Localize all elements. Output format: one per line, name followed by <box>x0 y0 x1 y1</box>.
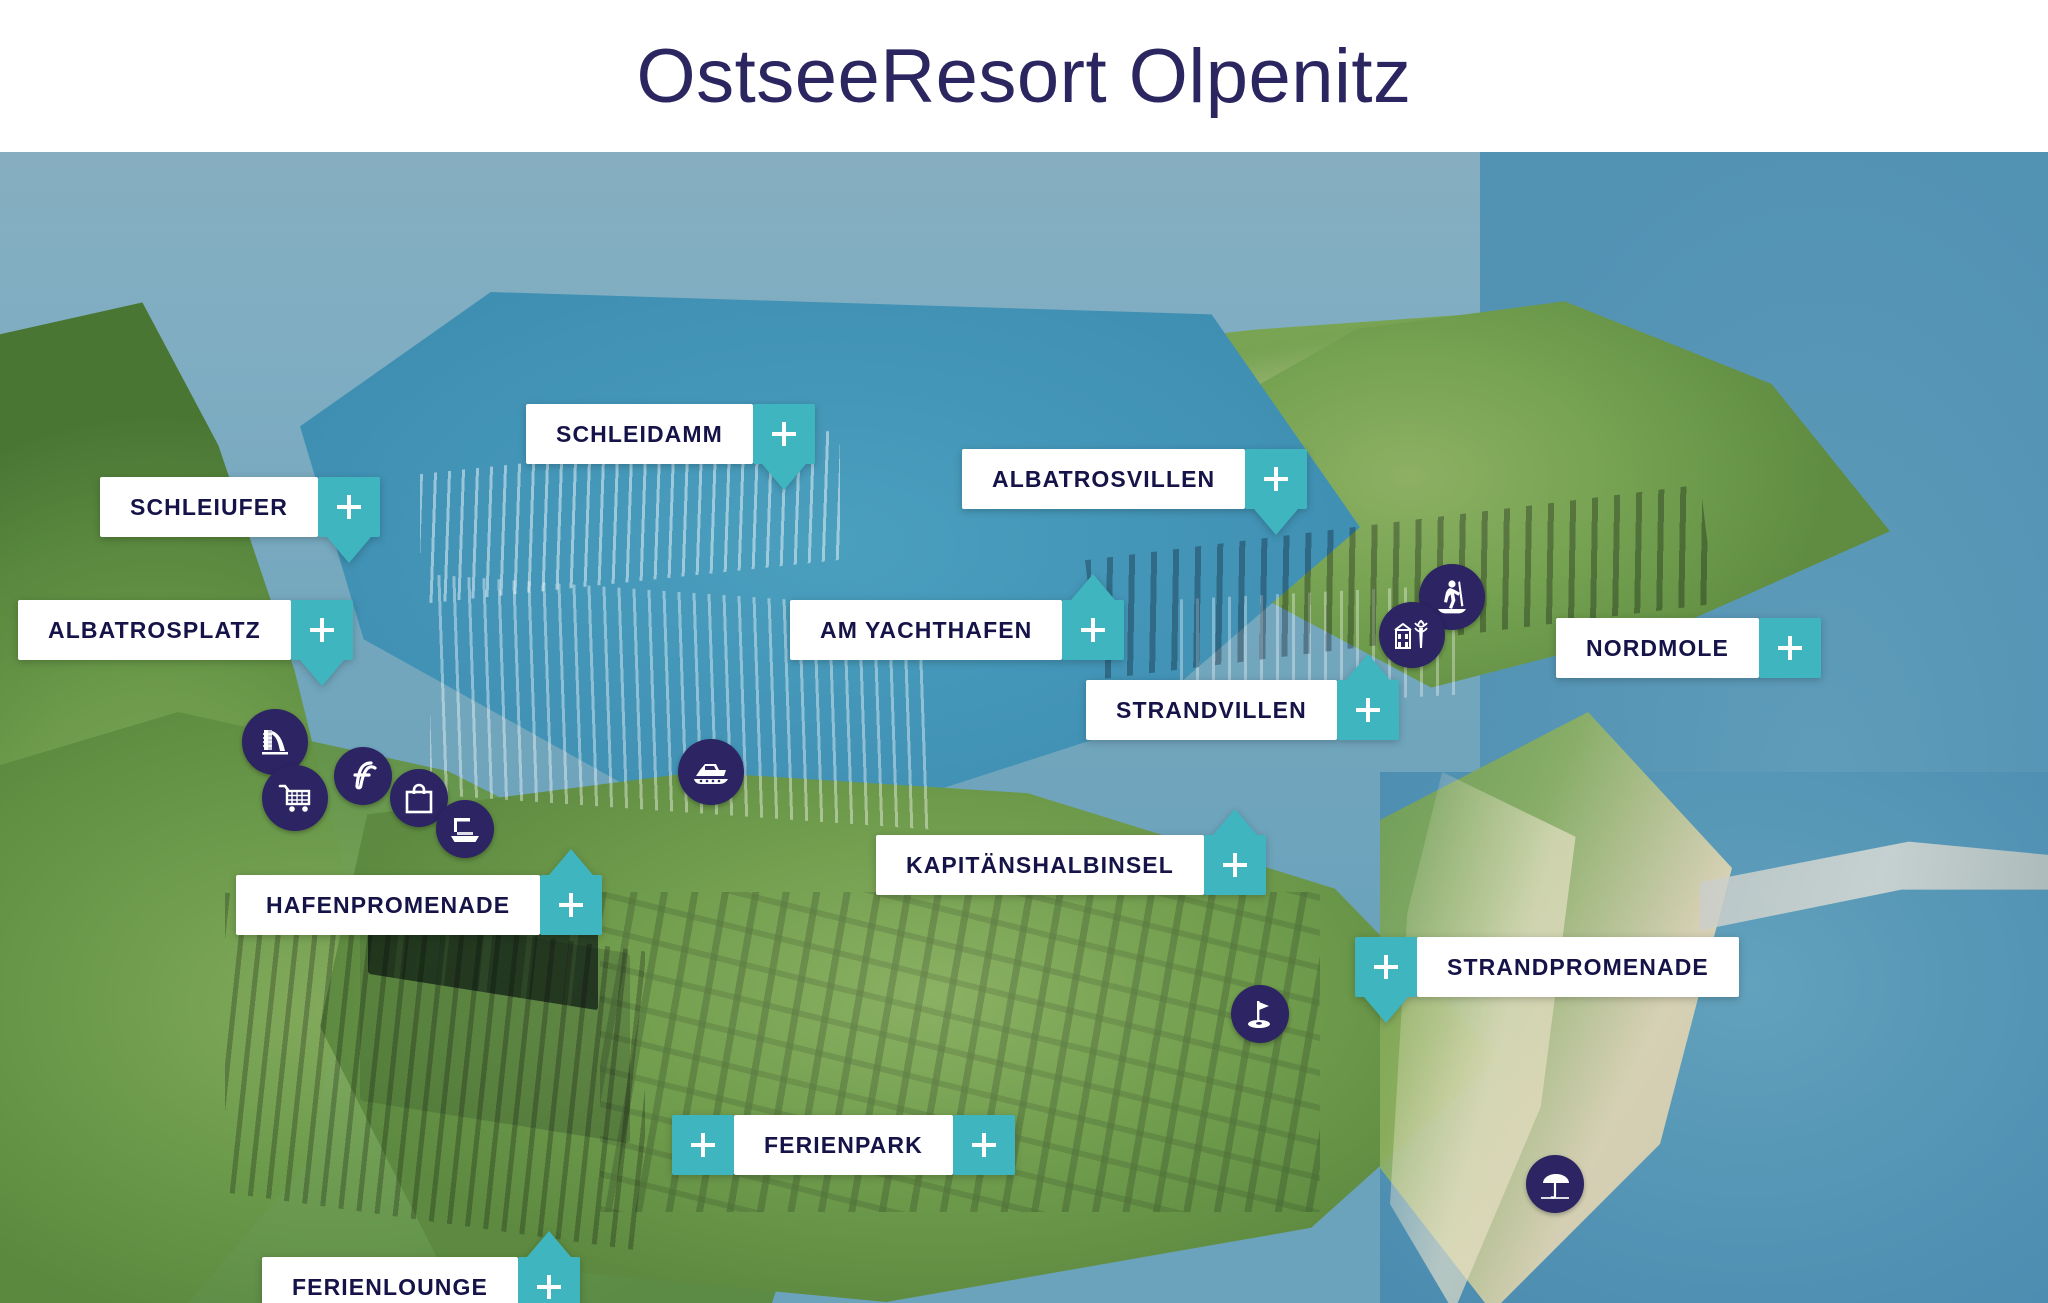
map-label-text-am-yachthafen: AM YACHTHAFEN <box>790 600 1062 660</box>
shopping-bag-icon <box>403 782 435 814</box>
motor-yacht-icon <box>692 757 730 787</box>
page-title: OstseeResort Olpenitz <box>636 33 1411 120</box>
plus-button-schleidamm[interactable] <box>753 404 815 464</box>
map-label-text-strandpromenade: STRANDPROMENADE <box>1417 937 1739 997</box>
poi-yacht[interactable] <box>678 739 744 805</box>
plus-icon <box>1353 695 1383 725</box>
plus-icon <box>307 615 337 645</box>
poi-shopping[interactable] <box>262 765 328 831</box>
page-root: OstseeResort Olpenitz SCHLEIDAMMSCHLEIUF… <box>0 0 2048 1303</box>
poi-slipway[interactable] <box>436 800 494 858</box>
map-label-text-kapitaenshalbinsel: KAPITÄNSHALBINSEL <box>876 835 1204 895</box>
plus-button-hafenpromenade[interactable] <box>540 875 602 935</box>
harbour-town-icon <box>1394 618 1430 652</box>
plus-icon <box>1220 850 1250 880</box>
plus-button-albatrosplatz[interactable] <box>291 600 353 660</box>
plus-button-strandvillen[interactable] <box>1337 680 1399 740</box>
map-label-strandpromenade[interactable]: STRANDPROMENADE <box>1355 937 1739 997</box>
slipway-boat-icon <box>448 812 482 846</box>
plus-button-strandpromenade[interactable] <box>1355 937 1417 997</box>
wakeboard-f-icon <box>345 758 381 794</box>
beach-umbrella-icon <box>1539 1168 1571 1200</box>
poi-harbour-town[interactable] <box>1379 602 1445 668</box>
plus-icon <box>534 1272 564 1302</box>
map-label-text-schleidamm: SCHLEIDAMM <box>526 404 753 464</box>
plus-button-kapitaenshalbinsel[interactable] <box>1204 835 1266 895</box>
map-label-text-hafenpromenade: HAFENPROMENADE <box>236 875 540 935</box>
plus-button-albatrosvillen[interactable] <box>1245 449 1307 509</box>
map-label-ferienpark[interactable]: FERIENPARK <box>672 1115 1015 1175</box>
plus-button-am-yachthafen[interactable] <box>1062 600 1124 660</box>
plus-icon <box>1775 633 1805 663</box>
map-label-hafenpromenade[interactable]: HAFENPROMENADE <box>236 875 602 935</box>
map-label-text-albatrosvillen: ALBATROSVILLEN <box>962 449 1245 509</box>
water-slide-icon <box>258 725 292 759</box>
plus-icon <box>1078 615 1108 645</box>
golf-flag-icon <box>1244 998 1276 1030</box>
map-label-albatrosvillen[interactable]: ALBATROSVILLEN <box>962 449 1307 509</box>
map-label-albatrosplatz[interactable]: ALBATROSPLATZ <box>18 600 353 660</box>
plus-icon <box>769 419 799 449</box>
shopping-cart-icon <box>278 781 312 815</box>
map-label-text-ferienpark: FERIENPARK <box>734 1115 953 1175</box>
plus-button-ferienpark-right[interactable] <box>953 1115 1015 1175</box>
title-bar: OstseeResort Olpenitz <box>0 0 2048 152</box>
plus-button-ferienlounge[interactable] <box>518 1257 580 1303</box>
poi-watersports[interactable] <box>334 747 392 805</box>
poi-golf[interactable] <box>1231 985 1289 1043</box>
poi-beach[interactable] <box>1526 1155 1584 1213</box>
map-label-text-nordmole: NORDMOLE <box>1556 618 1759 678</box>
plus-icon <box>1371 952 1401 982</box>
map-label-kapitaenshalbinsel[interactable]: KAPITÄNSHALBINSEL <box>876 835 1266 895</box>
map-label-schleidamm[interactable]: SCHLEIDAMM <box>526 404 815 464</box>
map-label-text-albatrosplatz: ALBATROSPLATZ <box>18 600 291 660</box>
plus-icon <box>1261 464 1291 494</box>
map-label-text-schleiufer: SCHLEIUFER <box>100 477 318 537</box>
map-label-strandvillen[interactable]: STRANDVILLEN <box>1086 680 1399 740</box>
plus-button-nordmole[interactable] <box>1759 618 1821 678</box>
map-label-nordmole[interactable]: NORDMOLE <box>1556 618 1821 678</box>
map-label-am-yachthafen[interactable]: AM YACHTHAFEN <box>790 600 1124 660</box>
map-label-text-ferienlounge: FERIENLOUNGE <box>262 1257 518 1303</box>
paddleboard-icon <box>1435 579 1469 615</box>
map-label-schleiufer[interactable]: SCHLEIUFER <box>100 477 380 537</box>
plus-button-ferienpark-left[interactable] <box>672 1115 734 1175</box>
plus-icon <box>334 492 364 522</box>
plus-icon <box>688 1130 718 1160</box>
plus-icon <box>556 890 586 920</box>
map-label-ferienlounge[interactable]: FERIENLOUNGE <box>262 1257 580 1303</box>
plus-icon <box>969 1130 999 1160</box>
plus-button-schleiufer[interactable] <box>318 477 380 537</box>
resort-map[interactable]: SCHLEIDAMMSCHLEIUFERALBATROSVILLENALBATR… <box>0 152 2048 1303</box>
map-label-text-strandvillen: STRANDVILLEN <box>1086 680 1337 740</box>
